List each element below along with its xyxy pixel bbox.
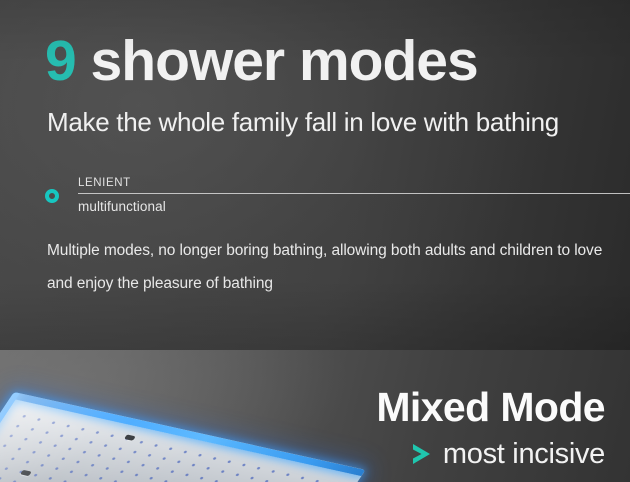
feature-text-block: LENIENT multifunctional	[78, 176, 630, 215]
feature-row: LENIENT multifunctional	[45, 176, 630, 220]
subheading: Make the whole family fall in love with …	[47, 105, 559, 139]
feature-subtitle: multifunctional	[78, 198, 630, 215]
mode-subtitle: most incisive	[443, 437, 605, 471]
ring-bullet-icon	[45, 189, 59, 203]
mode-count: 9	[45, 29, 76, 93]
page-title: 9 shower modes	[45, 30, 478, 92]
led-shower-panel-image	[0, 392, 365, 482]
feature-title: LENIENT	[78, 176, 630, 191]
promo-banner: 9 shower modes Make the whole family fal…	[0, 0, 630, 482]
body-paragraph: Multiple modes, no longer boring bathing…	[47, 234, 607, 300]
mode-subtitle-row: most incisive	[410, 437, 605, 471]
headline-text: shower modes	[91, 29, 478, 93]
chevron-right-icon	[410, 439, 436, 469]
feature-divider	[78, 193, 630, 194]
nozzle-grid	[0, 410, 346, 482]
top-section: 9 shower modes Make the whole family fal…	[0, 0, 630, 350]
mode-title: Mixed Mode	[376, 382, 605, 432]
